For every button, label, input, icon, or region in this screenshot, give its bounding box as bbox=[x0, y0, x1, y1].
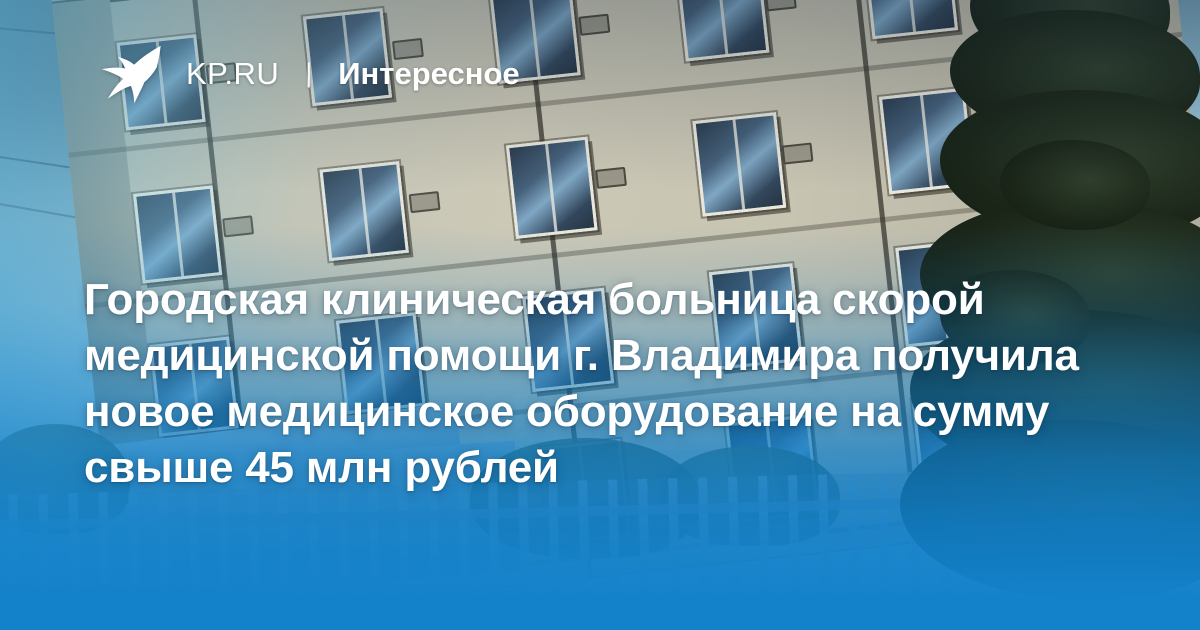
brand-header: KP.RU | Интересное bbox=[96, 42, 520, 104]
section-label[interactable]: Интересное bbox=[338, 58, 519, 89]
swallow-bird-logo-icon[interactable] bbox=[96, 42, 162, 104]
brand-label[interactable]: KP.RU bbox=[186, 58, 279, 89]
headline-title: Городская клиническая больница скорой ме… bbox=[84, 272, 1084, 496]
header-separator: | bbox=[305, 60, 312, 87]
kp-share-card: KP.RU | Интересное Городская клиническая… bbox=[0, 0, 1200, 630]
